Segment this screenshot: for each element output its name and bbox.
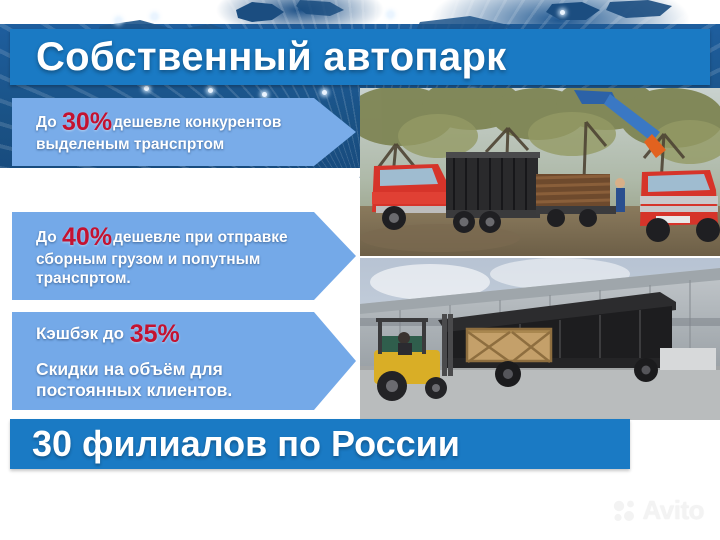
cashback-percent: 35% xyxy=(130,320,180,348)
offer-40-prefix: До xyxy=(36,229,61,246)
offer-30-suffix: дешевле конкурентов xyxy=(113,114,281,131)
avito-logo-icon xyxy=(612,498,638,524)
cashback-line2: Скидки на объём для xyxy=(36,359,310,380)
offer-40-percent: 40% xyxy=(62,223,112,251)
footer-bar: 30 филиалов по России xyxy=(10,419,630,469)
photo-trucks-image xyxy=(360,88,720,256)
photo-loading-image xyxy=(360,258,720,420)
header-bar: Собственный автопарк xyxy=(10,29,710,85)
avito-watermark: Avito xyxy=(612,495,704,526)
offer-30-line2: выделеным транспртом xyxy=(36,135,310,154)
footer-text: 30 филиалов по России xyxy=(32,424,460,464)
offer-30-line1: До 30%дешевле конкурентов xyxy=(36,110,310,135)
offer-40-line2: сборным грузом и попутным xyxy=(36,250,310,269)
offer-30-prefix: До xyxy=(36,114,61,131)
photo-loading xyxy=(360,258,720,420)
advertisement-banner: Собственный автопарк До 30%дешевле конку… xyxy=(0,0,720,480)
offer-40-line1: До 40%дешевле при отправке xyxy=(36,225,310,250)
cashback-line3: постоянных клиентов. xyxy=(36,380,310,401)
offer-40-line3: транспртом. xyxy=(36,269,310,288)
page-title: Собственный автопарк xyxy=(36,35,507,79)
avito-watermark-text: Avito xyxy=(642,495,704,526)
offer-block-cashback: Кэшбэк до 35% Скидки на объём для постоя… xyxy=(12,312,356,410)
offer-40-suffix: дешевле при отправке xyxy=(113,229,288,246)
cashback-prefix: Кэшбэк до xyxy=(36,324,129,343)
cashback-line1: Кэшбэк до 35% xyxy=(36,322,310,347)
photo-trucks xyxy=(360,88,720,256)
offer-block-30: До 30%дешевле конкурентов выделеным тран… xyxy=(12,98,356,166)
offer-block-40: До 40%дешевле при отправке сборным грузо… xyxy=(12,212,356,300)
offer-30-percent: 30% xyxy=(62,108,112,136)
